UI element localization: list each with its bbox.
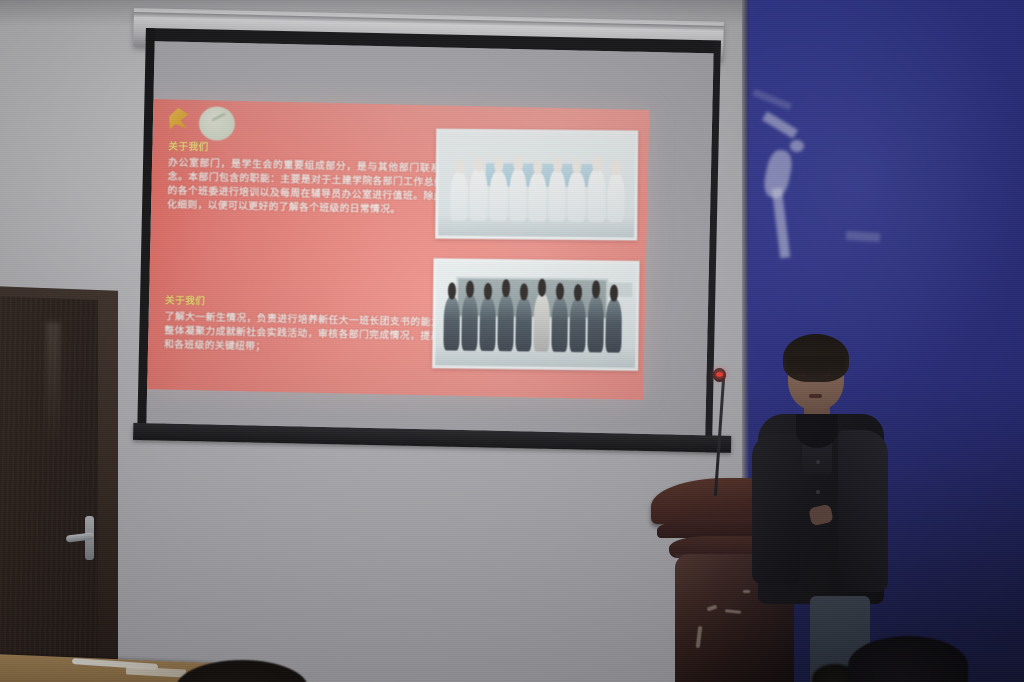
photo-person [548,170,566,222]
photo-person [515,298,532,352]
door-frame [0,286,118,682]
presentation-room-photo: ReadGood 关于我们 办公室部门，是学生会的重要组成部分，是与其他部门联系… [0,0,1024,682]
podium-scuff [743,590,750,593]
wall-scuff-mark [790,140,804,152]
speaker-eye [798,374,807,377]
speaker-mouth [809,394,822,398]
photo-person [461,295,478,351]
photo-person [551,297,568,352]
speaker-left-arm [752,434,800,584]
photo-person [443,297,460,351]
photo-person [479,297,496,351]
microphone-status-led [716,372,723,377]
photo-person [607,173,625,223]
jacket-button [816,460,820,464]
jacket-button [816,490,820,494]
slide-photo-group-two [432,258,639,371]
photo-person [605,299,622,353]
room-door[interactable] [0,296,98,682]
photo-person [528,172,546,222]
speaker-eye [822,374,831,377]
slide-photo-group-one [435,129,638,241]
photo-person [568,171,586,222]
speaker-person [752,330,892,682]
speaker-right-arm [838,430,888,592]
leaf-shape-icon [169,108,188,130]
photo-person [587,169,605,222]
photo-person [497,294,514,351]
light-circle-icon [199,106,236,141]
photo-person [509,169,527,222]
projected-slide: 关于我们 办公室部门，是学生会的重要组成部分，是与其他部门联系的桥梁、全力以赴是… [147,99,649,400]
photo-person [470,169,488,221]
photo-person [489,171,507,222]
speaker-collar [796,414,838,448]
door-highlight [46,322,60,443]
speaker-hair [783,334,849,382]
screen-surface: 关于我们 办公室部门，是学生会的重要组成部分，是与其他部门联系的桥梁、全力以赴是… [146,41,713,435]
photo-person [569,298,586,352]
photo-person [587,296,604,353]
photo-person [533,294,550,352]
projection-screen: 关于我们 办公室部门，是学生会的重要组成部分，是与其他部门联系的桥梁、全力以赴是… [137,28,721,452]
photo-person [450,171,468,221]
